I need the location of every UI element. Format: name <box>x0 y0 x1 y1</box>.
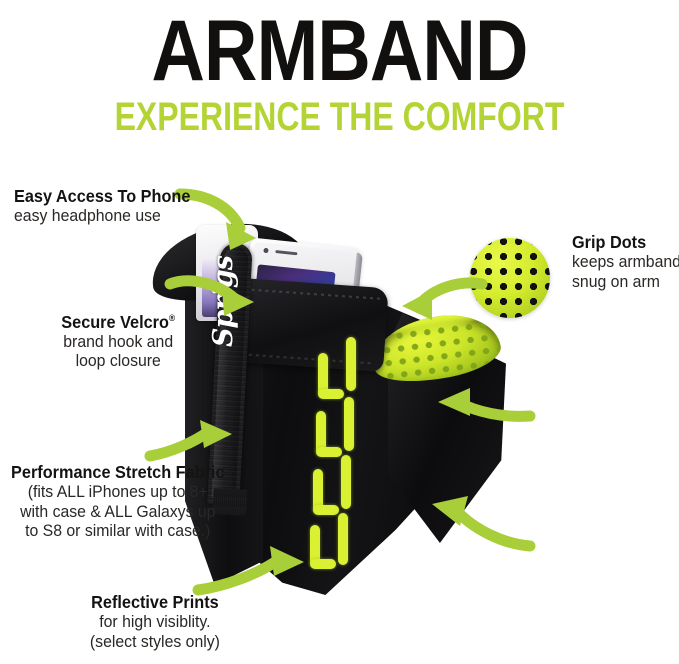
reflective-print-mark <box>313 505 339 515</box>
infographic-canvas: ARMBAND EXPERIENCE THE COMFORT Spri <box>0 0 679 664</box>
arrow-grip-dots <box>400 278 486 334</box>
callout-line: for high visiblity. <box>90 612 220 632</box>
callout-line: keeps armband <box>572 252 679 272</box>
reflective-print-mark <box>346 337 356 391</box>
arrow-performance-fabric <box>148 418 258 468</box>
callout-line: brand hook and <box>61 332 175 352</box>
callout-title: Reflective Prints <box>90 592 220 612</box>
arrow-soft-breathable <box>418 486 534 552</box>
callout-line: easy headphone use <box>14 206 190 226</box>
callout-easy-access: Easy Access To Phone easy headphone use <box>14 186 204 226</box>
callout-line: (select styles only) <box>90 632 220 652</box>
arrow-reflective-prints <box>196 540 326 598</box>
callout-performance-fabric: Performance Stretch Fabric (fits ALL iPh… <box>3 462 233 541</box>
callout-grip-dots: Grip Dots keeps armband snug on arm <box>572 232 679 291</box>
page-subtitle: EXPERIENCE THE COMFORT <box>68 96 611 138</box>
registered-trademark-icon: ® <box>169 313 175 323</box>
reflective-print-mark <box>338 513 348 565</box>
callout-title: Grip Dots <box>572 232 679 252</box>
callout-line: to S8 or similar with case.) <box>11 521 224 541</box>
callout-title: Secure Velcro® <box>61 308 175 332</box>
callout-line: with case & ALL Galaxys up <box>11 502 224 522</box>
header: ARMBAND EXPERIENCE THE COMFORT <box>0 0 679 138</box>
callout-title: Easy Access To Phone <box>14 186 190 206</box>
reflective-print-mark <box>341 455 351 509</box>
callout-soft-breathable: Soft Breathable Comfort No chafing or it… <box>675 536 679 595</box>
callout-no-adjusting: No Adjusting Stretches to fit your arm w… <box>672 398 679 457</box>
reflective-print-mark <box>344 397 354 451</box>
callout-title: Performance Stretch Fabric <box>11 462 224 482</box>
callout-line: snug on arm <box>572 272 679 292</box>
arrow-no-adjusting <box>424 382 534 428</box>
callout-line: (fits ALL iPhones up to 8+ <box>11 482 224 502</box>
page-title: ARMBAND <box>48 0 632 96</box>
callout-title-text: Secure Velcro <box>61 312 169 332</box>
callout-secure-velcro: Secure Velcro® brand hook and loop closu… <box>57 308 179 371</box>
callout-reflective-prints: Reflective Prints for high visiblity. (s… <box>85 592 225 651</box>
arrow-secure-velcro <box>168 272 278 330</box>
callout-line: loop closure <box>61 351 175 371</box>
reflective-print-mark <box>318 389 344 399</box>
reflective-print-mark <box>316 447 342 457</box>
